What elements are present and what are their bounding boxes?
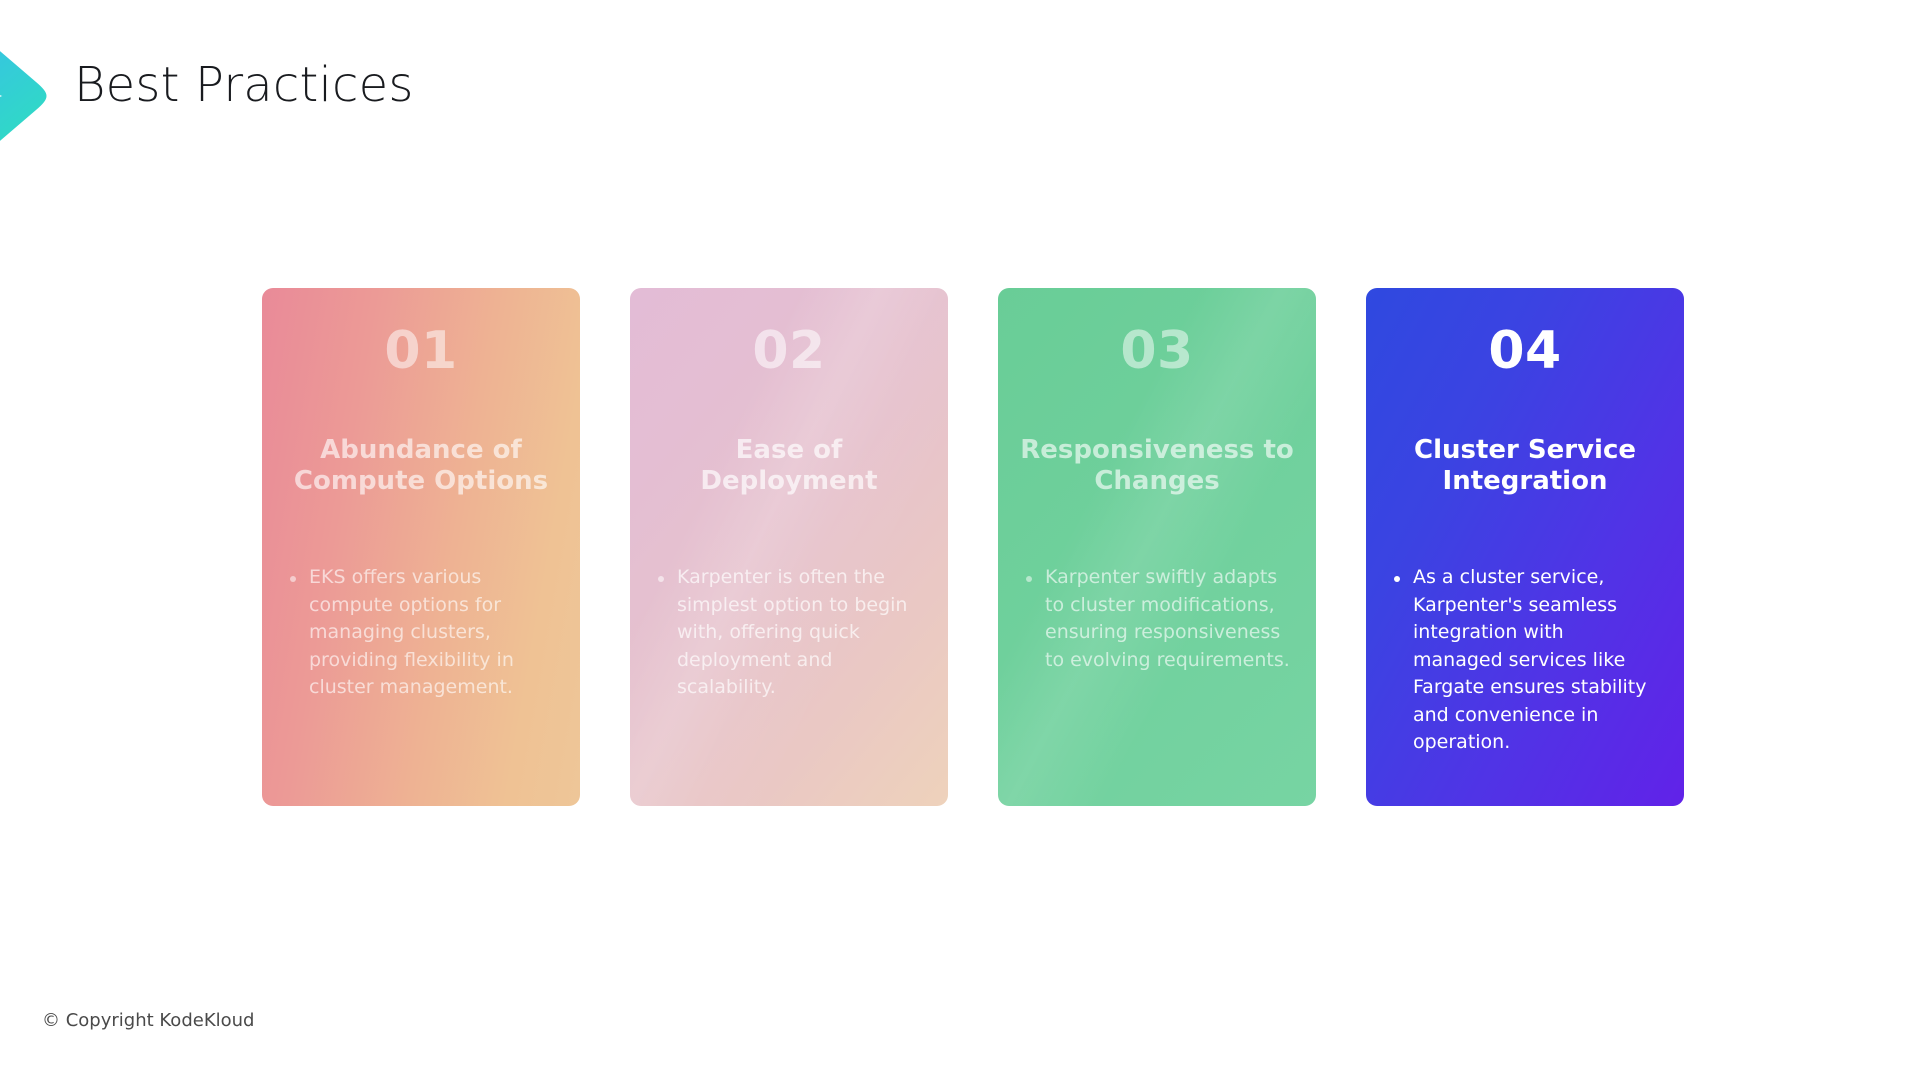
- bullet-dot-icon: [658, 576, 664, 582]
- card-title: Cluster Service Integration: [1388, 435, 1662, 498]
- practice-card-01[interactable]: 01 Abundance of Compute Options EKS offe…: [262, 288, 580, 806]
- card-title: Responsiveness to Changes: [1020, 435, 1294, 498]
- card-bullet-list: EKS offers various compute options for m…: [284, 564, 558, 702]
- page-title: Best Practices: [74, 57, 414, 113]
- card-title: Abundance of Compute Options: [284, 435, 558, 498]
- card-title: Ease of Deployment: [652, 435, 926, 498]
- bullet-dot-icon: [290, 576, 296, 582]
- card-number-badge: 04: [1488, 324, 1561, 379]
- card-number-badge: 02: [752, 324, 825, 379]
- list-item: Karpenter swiftly adapts to cluster modi…: [1020, 564, 1294, 674]
- practice-card-04[interactable]: 04 Cluster Service Integration As a clus…: [1366, 288, 1684, 806]
- bullet-text: Karpenter is often the simplest option t…: [677, 564, 922, 702]
- slide-header: Best Practices: [0, 0, 1920, 200]
- best-practices-card-list: 01 Abundance of Compute Options EKS offe…: [262, 288, 1684, 806]
- bullet-text: EKS offers various compute options for m…: [309, 564, 554, 702]
- kodekloud-chevron-logo-icon: [0, 18, 66, 174]
- practice-card-02[interactable]: 02 Ease of Deployment Karpenter is often…: [630, 288, 948, 806]
- bullet-dot-icon: [1394, 576, 1400, 582]
- card-number-badge: 01: [384, 324, 457, 379]
- bullet-dot-icon: [1026, 576, 1032, 582]
- list-item: As a cluster service, Karpenter's seamle…: [1388, 564, 1662, 757]
- copyright-footer: © Copyright KodeKloud: [42, 1010, 254, 1031]
- card-number-badge: 03: [1120, 324, 1193, 379]
- card-bullet-list: As a cluster service, Karpenter's seamle…: [1388, 564, 1662, 757]
- slide-root: Best Practices 01 Abundance of Compute O…: [0, 0, 1920, 1080]
- list-item: Karpenter is often the simplest option t…: [652, 564, 926, 702]
- bullet-text: Karpenter swiftly adapts to cluster modi…: [1045, 564, 1290, 674]
- bullet-text: As a cluster service, Karpenter's seamle…: [1413, 564, 1658, 757]
- practice-card-03[interactable]: 03 Responsiveness to Changes Karpenter s…: [998, 288, 1316, 806]
- card-bullet-list: Karpenter is often the simplest option t…: [652, 564, 926, 702]
- card-bullet-list: Karpenter swiftly adapts to cluster modi…: [1020, 564, 1294, 674]
- list-item: EKS offers various compute options for m…: [284, 564, 558, 702]
